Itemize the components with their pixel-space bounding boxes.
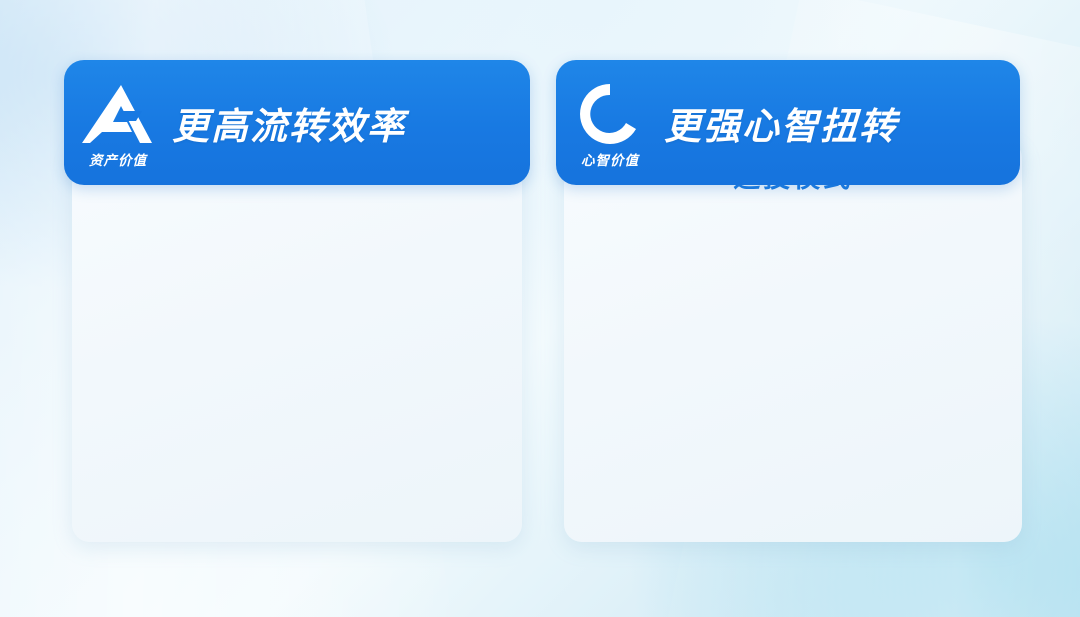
left-panel-title: 更高流转效率 [172,96,406,150]
left-panel-body [72,140,522,542]
asset-value-caption: 资产价值 [89,149,147,169]
right-panel-title: 更强心智扭转 [664,96,898,150]
infographic-canvas: 资产价值 更高流转效率 R1曝光触达 R2浅层互动 +15% R3深层触动 [0,0,1080,617]
mind-value-c-icon [574,81,646,147]
mind-value-badge: 心智价值 [556,60,664,185]
mind-value-caption: 心智价值 [581,149,639,169]
asset-value-a-icon [80,81,156,147]
right-panel-body: 追投模式 [564,140,1022,542]
asset-value-badge: 资产价值 [64,60,172,185]
left-panel-header: 资产价值 更高流转效率 [64,60,530,185]
right-panel-header: 心智价值 更强心智扭转 [556,60,1020,185]
